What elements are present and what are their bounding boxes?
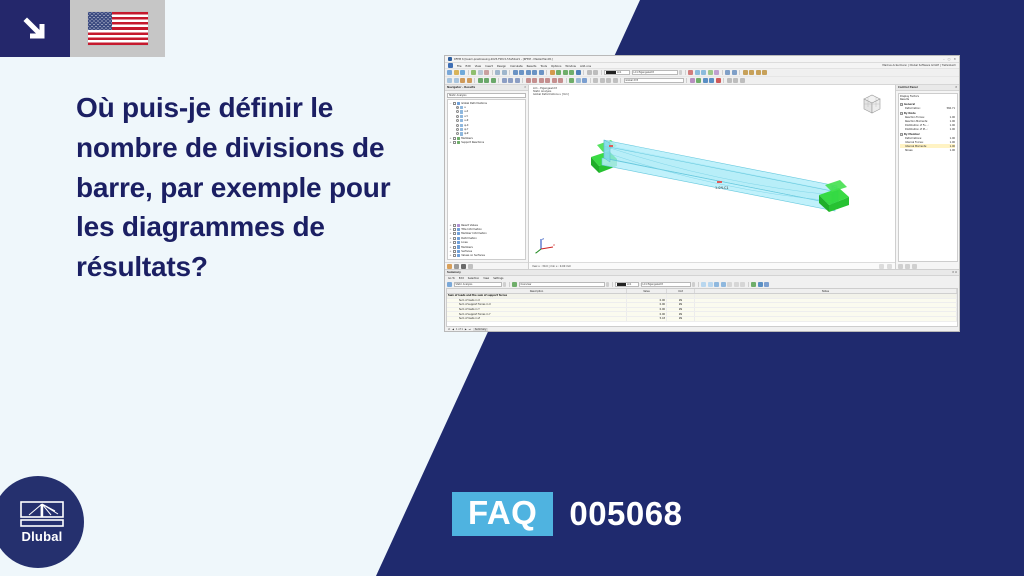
result-icon (460, 110, 463, 113)
result-icon (460, 119, 463, 122)
svg-text:Z: Z (542, 237, 544, 241)
printer-icon[interactable] (478, 70, 483, 75)
cell-description: Sum of support forces in Y (447, 312, 627, 316)
warning-icon[interactable] (879, 264, 884, 269)
table-row[interactable]: Sum of loads in Z 5.43 kN (447, 317, 957, 322)
pin-icon[interactable]: ⌷ ✕ (952, 271, 957, 274)
control-row-value[interactable]: 1.00 (950, 128, 955, 131)
cell-description: Sum of loads in Z (447, 317, 627, 321)
radio[interactable] (456, 110, 459, 113)
svg-text:Y: Y (535, 251, 537, 255)
faq-badge: FAQ (452, 492, 553, 536)
cell-notes (695, 299, 957, 303)
values-on-surfaces-icon (457, 254, 460, 257)
secondary-toolbar[interactable]: Global XYZ (445, 77, 959, 85)
radio[interactable] (456, 128, 459, 131)
surface-icon[interactable] (478, 78, 483, 83)
printout-report-icon[interactable] (732, 70, 737, 75)
result-diagram-icon[interactable] (714, 70, 719, 75)
view-combo[interactable]: Global XYZ (624, 78, 684, 83)
deformation-icon[interactable] (688, 70, 693, 75)
chevron-down-icon[interactable] (679, 70, 682, 75)
toolbar-separator (685, 70, 686, 75)
tab-results[interactable] (468, 264, 473, 269)
title-info-icon (457, 228, 460, 231)
control-row-label: Reaction Forces: (905, 116, 925, 119)
control-row-label: Deformation: (905, 107, 921, 110)
column-header-unit: Unit (667, 289, 695, 293)
measure-icon[interactable] (587, 70, 592, 75)
navigator-panel: Navigator - Results ⌷ Static Analysis − … (445, 85, 529, 269)
loadcase-color-swatch[interactable]: LC1 (615, 282, 639, 287)
control-panel-body[interactable]: Display Factors Results − General Deform… (898, 93, 958, 262)
export-icon[interactable] (721, 282, 726, 287)
pager-prev-icon[interactable]: ◀ (452, 328, 454, 331)
rotate-icon[interactable] (727, 78, 732, 83)
column-header-description: Description (447, 289, 627, 293)
result-icon (460, 106, 463, 109)
opening-icon[interactable] (491, 78, 496, 83)
info-icon[interactable] (887, 264, 892, 269)
summary-table[interactable]: Description Value Unit Notes Sum of load… (446, 288, 958, 327)
deformation-icon (457, 102, 460, 105)
columns-icon[interactable] (734, 282, 739, 287)
flag-graphic (88, 12, 148, 45)
expand-icon[interactable]: + (449, 137, 452, 140)
viewport-values: Global Deformations u [mm] (533, 93, 569, 96)
radio-selected[interactable] (456, 106, 459, 109)
stresses-icon[interactable] (701, 70, 706, 75)
user-account-label: Markus Ackermann | Dlubal Software GmbH … (882, 64, 956, 67)
expand-icon[interactable]: + (449, 250, 452, 253)
toolbar-separator (723, 78, 724, 83)
toolbar-separator (698, 282, 699, 287)
render-shaded-icon[interactable] (532, 70, 537, 75)
summary-menu-goto[interactable]: Go To (448, 277, 455, 280)
maximize-icon[interactable]: ▢ (948, 57, 951, 61)
cell-unit: kN (667, 303, 695, 307)
group-visibility-icon[interactable] (696, 78, 701, 83)
control-panel-subtitle-2: Results (900, 98, 955, 101)
ortho-icon[interactable] (756, 70, 761, 75)
array-icon[interactable] (740, 78, 745, 83)
tree-item-label: Global Deformations (461, 102, 487, 105)
navigator-title: Navigator - Results (447, 86, 475, 89)
zoom-window-icon[interactable] (550, 70, 555, 75)
collapse-icon[interactable]: − (900, 103, 903, 106)
checkbox[interactable] (453, 259, 456, 260)
redo-icon[interactable] (502, 70, 507, 75)
zoom-selection-icon[interactable] (701, 282, 706, 287)
toolbar-separator (601, 70, 602, 75)
united-states-flag-icon (70, 0, 165, 57)
viewport-footer: max u : 30.0 | min u : 0.00 mm (529, 262, 895, 269)
summary-menu-edit[interactable]: Edit (459, 277, 464, 280)
control-panel: Control Panel ⌷ Display Factors Results … (895, 85, 959, 269)
expand-icon[interactable]: + (449, 241, 452, 244)
tree-item-label: Members (461, 137, 473, 140)
print-table-icon[interactable] (727, 282, 732, 287)
expand-icon[interactable]: + (449, 228, 452, 231)
control-row-label: Deformations: (905, 137, 922, 140)
menu-app-icon (448, 63, 453, 68)
control-row-value[interactable]: 1.00 (950, 116, 955, 119)
cell-description: Sum of loads in X (447, 299, 627, 303)
cell-unit: kN (667, 299, 695, 303)
mirror-icon[interactable] (733, 78, 738, 83)
xyz-axes-icon: Z X Y (535, 237, 557, 256)
viewport-tools[interactable] (879, 264, 892, 269)
pan-icon[interactable] (576, 70, 581, 75)
checkbox[interactable] (453, 141, 456, 144)
analysis-combo[interactable]: Static Analysis (454, 282, 502, 287)
control-row-value[interactable]: 560.71 (947, 107, 955, 110)
refresh-icon[interactable] (751, 282, 756, 287)
export-excel-icon[interactable] (714, 282, 719, 287)
toolbar-separator (748, 282, 749, 287)
result-icon (460, 132, 463, 135)
members-icon (457, 137, 460, 140)
menu-item-results[interactable]: Results (527, 64, 537, 68)
result-icon (460, 124, 463, 127)
free-load-icon[interactable] (552, 78, 557, 83)
navigator-tabs[interactable] (445, 262, 528, 269)
cell-unit (667, 294, 695, 298)
line-icon[interactable] (460, 78, 465, 83)
checkbox[interactable] (453, 254, 456, 257)
control-row-label: Distribution of Fo...: (905, 124, 929, 127)
check-model-icon[interactable] (576, 78, 581, 83)
calculate-icon[interactable] (569, 78, 574, 83)
render-hidden-icon[interactable] (539, 70, 544, 75)
checkbox[interactable] (453, 137, 456, 140)
settings-icon[interactable] (758, 282, 763, 287)
new-icon[interactable] (447, 70, 452, 75)
control-row-distribution-moments[interactable]: Distribution of M...: 1.00 (900, 127, 955, 131)
load-case-color-swatch[interactable]: LC1 (604, 70, 630, 75)
select-icon[interactable] (447, 78, 452, 83)
control-row-deformation[interactable]: Deformation: 560.71 (900, 106, 955, 110)
support-icon[interactable] (502, 78, 507, 83)
cell-unit: kN (667, 317, 695, 321)
expand-icon[interactable]: + (449, 254, 452, 257)
toolbar-separator (583, 70, 584, 75)
render-wire-icon[interactable] (519, 70, 524, 75)
chevron-down-icon[interactable] (692, 282, 695, 287)
menu-item-calculate[interactable]: Calculate (510, 64, 523, 68)
open-icon[interactable] (454, 70, 459, 75)
tree-item-label: φ-X (464, 124, 468, 127)
member-info-icon (457, 232, 460, 235)
load-case-combo[interactable]: LC1 Eigengewicht (632, 70, 678, 75)
svg-text:X: X (553, 243, 555, 247)
control-row-value[interactable]: 1.00 (950, 149, 955, 152)
tables-icon[interactable] (725, 70, 730, 75)
summary-tab[interactable]: Summary (473, 328, 489, 331)
faq-number: 005068 (569, 495, 682, 533)
tree-item-label: u-Y (464, 115, 468, 118)
surface-load-icon[interactable] (545, 78, 550, 83)
object-snap-icon[interactable] (749, 70, 754, 75)
flag-canton (88, 12, 112, 30)
checkbox[interactable] (453, 246, 456, 249)
expand-icon[interactable]: − (449, 102, 452, 105)
dlubal-truss-icon (20, 501, 64, 527)
application-body: Navigator - Results ⌷ Static Analysis − … (445, 85, 959, 269)
menu-item-addons[interactable]: Add-ons (580, 64, 591, 68)
tree-item-label: Result Values (461, 224, 478, 227)
chevron-down-icon[interactable] (503, 282, 506, 287)
viewport-3d[interactable]: LC1 - Eigengewicht Static Analysis Globa… (529, 85, 895, 262)
collapse-icon[interactable]: − (900, 112, 903, 115)
render-solid-icon[interactable] (513, 70, 518, 75)
pager-first-icon[interactable]: ⏮ (448, 328, 450, 331)
save-icon[interactable] (460, 70, 465, 75)
solid-icon[interactable] (484, 78, 489, 83)
control-row-value[interactable]: 1.00 (950, 124, 955, 127)
mesh-icon[interactable] (582, 78, 587, 83)
pin-icon[interactable]: ⌷ (955, 86, 957, 89)
summary-menu-settings[interactable]: Settings (493, 277, 503, 280)
close-icon[interactable]: ✕ (953, 57, 956, 61)
nodal-load-icon[interactable] (526, 78, 531, 83)
preview-icon[interactable] (484, 70, 489, 75)
viewport-extremes: max u : 30.0 | min u : 0.00 mm (532, 265, 571, 268)
tab-data[interactable] (447, 264, 452, 269)
summary-toolbar[interactable]: Static Analysis Overview LC1 LC1 Eigenge… (445, 281, 959, 288)
checkbox[interactable] (453, 237, 456, 240)
tree-item-type-of-display[interactable]: + Type of Display (448, 258, 525, 260)
internal-forces-icon[interactable] (695, 70, 700, 75)
menu-item-edit[interactable]: Edit (466, 64, 471, 68)
toolbar-separator (492, 70, 493, 75)
result-values-icon (457, 224, 460, 227)
checkbox[interactable] (453, 102, 456, 105)
visibility-icon[interactable] (690, 78, 695, 83)
tree-item-label: Lines (461, 241, 468, 244)
hinge-icon[interactable] (508, 78, 513, 83)
toolbar-separator (722, 70, 723, 75)
control-panel-header: Control Panel ⌷ (896, 85, 959, 91)
lines-icon (457, 241, 460, 244)
logo-text: Dlubal (22, 529, 63, 544)
tab-views[interactable] (461, 264, 466, 269)
undo-icon[interactable] (495, 70, 500, 75)
toolbar-separator (468, 70, 469, 75)
tree-item-label: Members (461, 246, 473, 249)
result-icon (460, 128, 463, 131)
cell-value: 0.00 (627, 303, 667, 307)
beam-model-graphic: 1.0*LC1 (547, 109, 877, 262)
zoom-out-icon[interactable] (569, 70, 574, 75)
cell-notes (695, 294, 957, 298)
control-row-stress[interactable]: Stress: 1.00 (900, 148, 955, 152)
tree-item-label: u-Z (464, 119, 468, 122)
grid-snap-icon[interactable] (743, 70, 748, 75)
column-header-notes: Notes (695, 289, 957, 293)
tree-item-label: Support Reactions (461, 141, 484, 144)
tab-display[interactable] (454, 264, 459, 269)
zoom-in-icon[interactable] (563, 70, 568, 75)
panel-factors-icon[interactable] (898, 264, 903, 269)
cell-value: 5.43 (627, 317, 667, 321)
text-annotation-icon[interactable] (600, 78, 605, 83)
dimension-line-icon[interactable] (593, 78, 598, 83)
control-row-value[interactable]: 1.00 (950, 120, 955, 123)
pager-last-icon[interactable]: ⏭ (469, 328, 471, 331)
arrow-down-right-icon (0, 0, 70, 57)
menu-item-options[interactable]: Options (551, 64, 561, 68)
control-row-label: Distribution of M...: (905, 128, 928, 131)
toolbar-separator (620, 78, 621, 83)
checkbox[interactable] (453, 224, 456, 227)
column-header-value: Value (627, 289, 667, 293)
radio[interactable] (456, 124, 459, 127)
menu-item-view[interactable]: View (475, 64, 481, 68)
panel-colors-icon[interactable] (905, 264, 910, 269)
summary-menu-selection[interactable]: Selection (468, 277, 480, 280)
member-load-icon[interactable] (539, 78, 544, 83)
summary-title: Summary (447, 271, 461, 274)
zoom-all-icon[interactable] (556, 70, 561, 75)
toolbar-separator (498, 78, 499, 83)
cell-notes (695, 317, 957, 321)
svg-text:1.0*LC1: 1.0*LC1 (715, 186, 729, 190)
control-row-value[interactable]: 1.00 (950, 137, 955, 140)
analysis-selector[interactable]: Static Analysis (447, 93, 526, 98)
toolbar-separator (590, 78, 591, 83)
control-row-label: Stress: (905, 149, 913, 152)
saved-views-icon[interactable] (709, 78, 714, 83)
collapse-icon[interactable]: − (900, 133, 903, 136)
minimize-icon[interactable]: – (943, 57, 945, 61)
chevron-down-icon[interactable] (606, 282, 609, 287)
view-cube-icon[interactable] (859, 91, 885, 118)
expand-icon[interactable]: + (449, 259, 452, 260)
summary-menu-view[interactable]: View (483, 277, 489, 280)
node-icon[interactable] (454, 78, 459, 83)
viewport-label: LC1 - Eigengewicht Static Analysis Globa… (533, 87, 569, 96)
rfem-app-icon (448, 57, 452, 61)
dimension-icon[interactable] (593, 70, 598, 75)
panel-filter-icon[interactable] (912, 264, 917, 269)
help-icon[interactable] (764, 282, 769, 287)
render-transparent-icon[interactable] (526, 70, 531, 75)
window-titlebar: RFEM 6 [beam-prestressing-2025-FSM-5-53a… (445, 56, 959, 63)
expand-icon[interactable]: + (449, 141, 452, 144)
control-panel-footer[interactable] (896, 263, 959, 269)
imperfection-icon[interactable] (558, 78, 563, 83)
toolbar-separator (566, 78, 567, 83)
result-icon (460, 115, 463, 118)
menu-item-insert[interactable]: Insert (485, 64, 493, 68)
expand-icon[interactable]: + (449, 224, 452, 227)
delete-view-icon[interactable] (716, 78, 721, 83)
toolbar-separator (509, 70, 510, 75)
pager-next-icon[interactable]: ▶ (465, 328, 467, 331)
release-icon[interactable] (515, 78, 520, 83)
cell-notes (695, 303, 957, 307)
cartesian-grid-icon[interactable] (762, 70, 767, 75)
window-title: RFEM 6 [beam-prestressing-2025-FSM-5-53a… (454, 58, 553, 61)
clipping-icon[interactable] (606, 78, 611, 83)
overview-combo[interactable]: Overview (519, 282, 605, 287)
summary-loadcase-combo[interactable]: LC1 Eigengewicht (641, 282, 691, 287)
radio[interactable] (456, 115, 459, 118)
cell-unit: kN (667, 312, 695, 316)
menu-item-file[interactable]: File (457, 64, 462, 68)
cell-notes (695, 312, 957, 316)
checkbox[interactable] (453, 241, 456, 244)
pager-label: 1 of 1 (456, 328, 463, 331)
window-buttons[interactable]: – ▢ ✕ (943, 57, 956, 61)
main-toolbar[interactable]: LC1 LC1 Eigengewicht (445, 69, 959, 77)
radio[interactable] (456, 119, 459, 122)
supports-icon (457, 141, 460, 144)
tree-item-label: u-X (464, 110, 468, 113)
print-icon[interactable] (471, 70, 476, 75)
cell-unit: kN (667, 308, 695, 312)
tree-spacer (448, 145, 525, 223)
results-on-members-icon[interactable] (708, 70, 713, 75)
menu-item-tools[interactable]: Tools (540, 64, 547, 68)
tree-item-label: Title Information (461, 228, 482, 231)
radio[interactable] (456, 132, 459, 135)
line-load-icon[interactable] (532, 78, 537, 83)
toolbar-separator (509, 282, 510, 287)
pin-icon[interactable]: ⌷ (524, 86, 526, 89)
control-panel-title: Control Panel (898, 86, 918, 89)
checkbox[interactable] (453, 250, 456, 253)
menu-item-window[interactable]: Window (565, 64, 576, 68)
tree-item-label: u (464, 106, 466, 109)
toolbar-separator (546, 70, 547, 75)
analysis-type-icon (447, 282, 452, 287)
checkbox[interactable] (453, 232, 456, 235)
members-icon (457, 245, 460, 248)
filter-icon[interactable] (708, 282, 713, 287)
model-view[interactable]: LC1 - Eigengewicht Static Analysis Globa… (529, 85, 895, 269)
cell-value (627, 294, 667, 298)
tree-item-label: Surfaces (461, 250, 472, 253)
cell-notes (695, 308, 957, 312)
tree-item-label: Member Information (461, 232, 487, 235)
expand-icon[interactable]: + (449, 246, 452, 249)
expand-icon[interactable]: + (449, 232, 452, 235)
toolbar-separator (686, 78, 687, 83)
menu-item-design[interactable]: Design (497, 64, 506, 68)
navigator-tree[interactable]: − Global Deformations u u-X (447, 99, 526, 260)
cell-description: Sum of support forces in X (447, 303, 627, 307)
cell-value: 0.00 (627, 299, 667, 303)
control-row-value[interactable]: 1.00 (950, 145, 955, 148)
units-icon[interactable] (740, 282, 745, 287)
section-cut-icon[interactable] (613, 78, 618, 83)
overview-icon (512, 282, 517, 287)
checkbox[interactable] (453, 228, 456, 231)
expand-icon[interactable]: + (449, 237, 452, 240)
tree-item-label: Deformation (461, 237, 477, 240)
control-row-value[interactable]: 1.00 (950, 141, 955, 144)
navigator-header: Navigator - Results ⌷ (445, 85, 528, 91)
toolbar-separator (739, 70, 740, 75)
cell-value: 0.00 (627, 308, 667, 312)
member-icon[interactable] (467, 78, 472, 83)
generate-visibility-icon[interactable] (703, 78, 708, 83)
rfem-application-screenshot: RFEM 6 [beam-prestressing-2025-FSM-5-53a… (444, 55, 960, 332)
summary-dock: Summary ⌷ ✕ Go To Edit Selection View Se… (445, 269, 959, 332)
cell-description: Sum of loads in Y (447, 308, 627, 312)
